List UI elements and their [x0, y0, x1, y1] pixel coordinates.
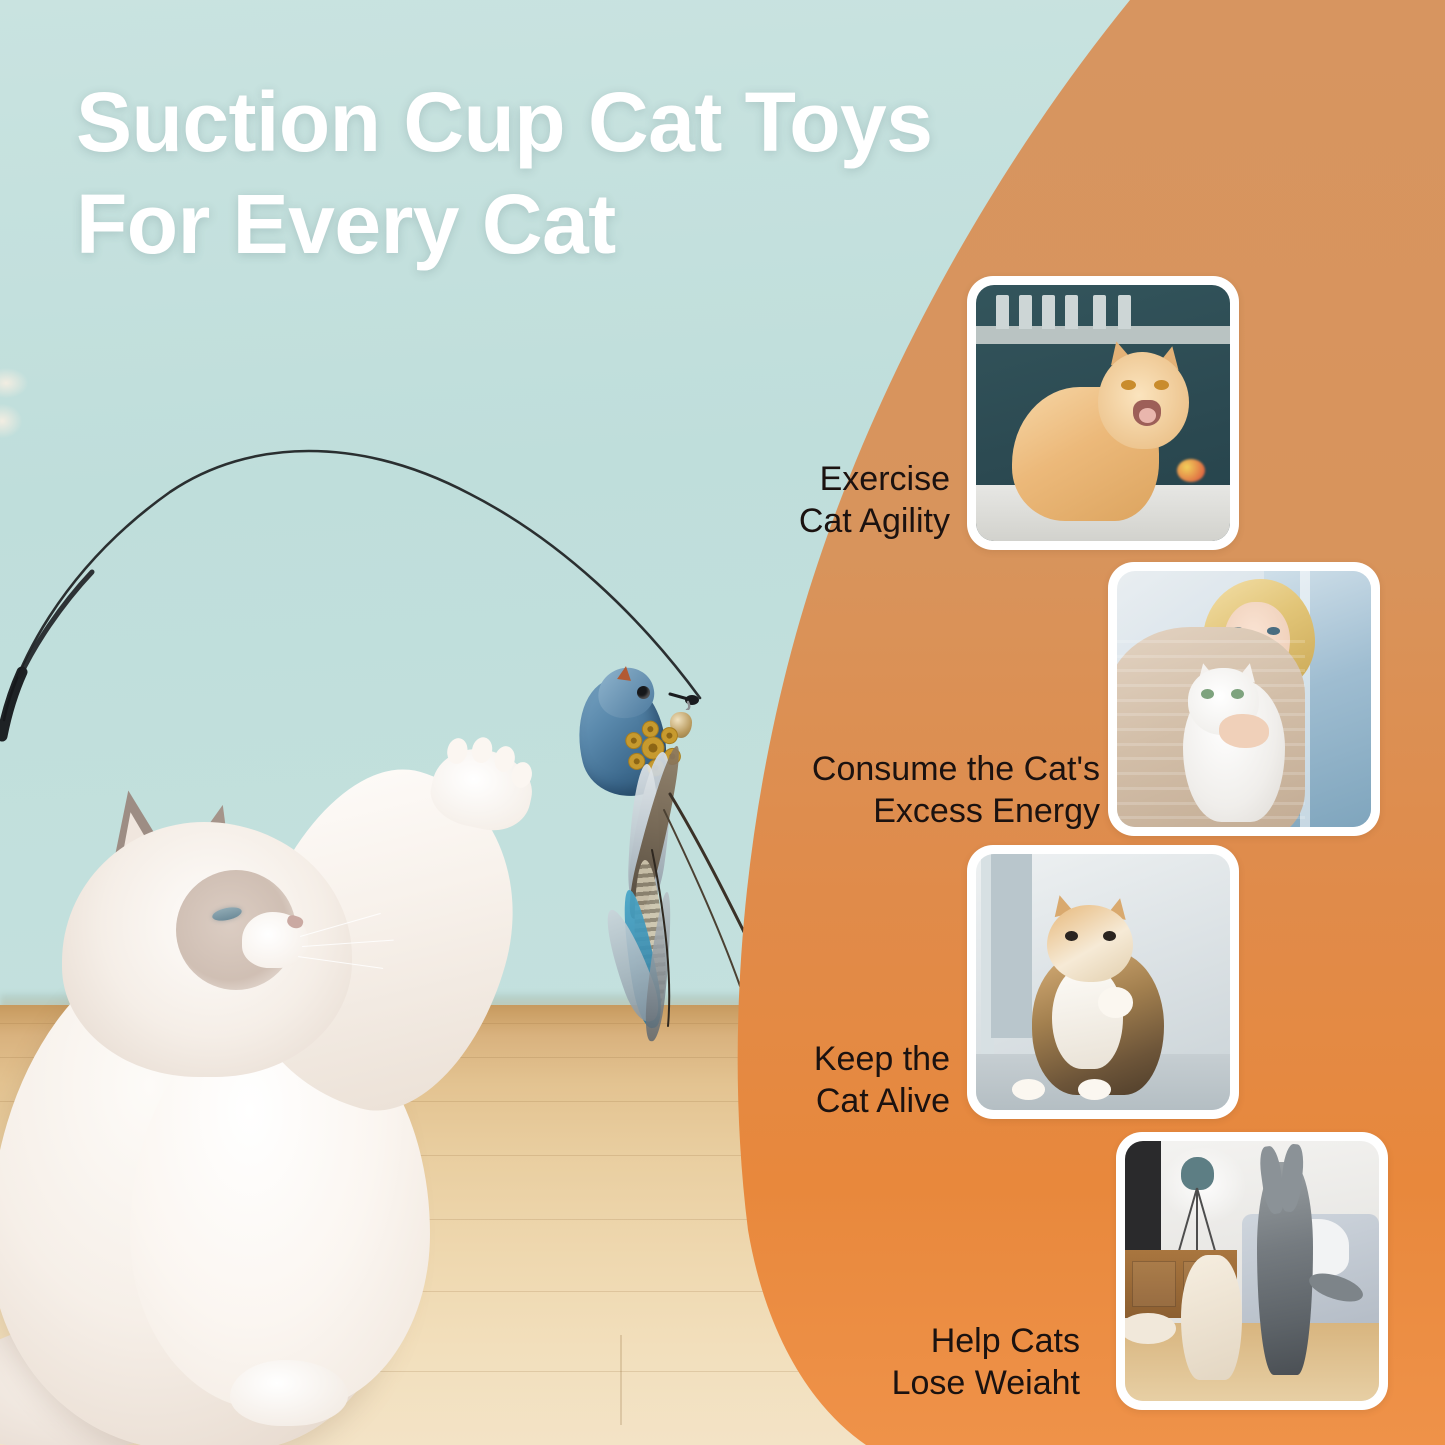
page-title: Suction Cup Cat Toys For Every Cat [76, 72, 1156, 275]
feature-label-line-1: Keep the [590, 1038, 950, 1080]
feature-thumbnail[interactable] [1108, 562, 1380, 836]
woman-holding-white-cat-photo [1117, 571, 1371, 827]
feature-label-line-1: Consume the Cat's [540, 748, 1100, 790]
sweater-rib [1117, 655, 1305, 658]
feature-thumbnail[interactable] [1116, 1132, 1388, 1410]
ginger-long-haired-cat-meowing-photo [976, 285, 1230, 541]
feature-label-line-2: Excess Energy [540, 790, 1100, 832]
feature-label: Exercise Cat Agility [590, 458, 950, 542]
feature-label-line-2: Lose Weiaht [700, 1362, 1080, 1404]
two-cats-playing-living-room-photo [1125, 1141, 1379, 1401]
feature-label-line-1: Exercise [590, 458, 950, 500]
sweater-rib [1117, 640, 1305, 643]
calico-cat-sitting-upright-photo [976, 854, 1230, 1110]
feature-label-line-1: Help Cats [700, 1320, 1080, 1362]
headline-line-1: Suction Cup Cat Toys [76, 72, 1156, 174]
feature-label: Keep the Cat Alive [590, 1038, 950, 1122]
feature-label: Help Cats Lose Weiaht [700, 1320, 1080, 1404]
feature-label-line-2: Cat Agility [590, 500, 950, 542]
product-infographic: Suction Cup Cat Toys For Every Cat Exerc… [0, 0, 1445, 1445]
feature-thumbnail[interactable] [967, 276, 1239, 550]
feature-thumbnail[interactable] [967, 845, 1239, 1119]
feature-label: Consume the Cat's Excess Energy [540, 748, 1100, 832]
feature-label-line-2: Cat Alive [590, 1080, 950, 1122]
headline-line-2: For Every Cat [76, 174, 1156, 276]
